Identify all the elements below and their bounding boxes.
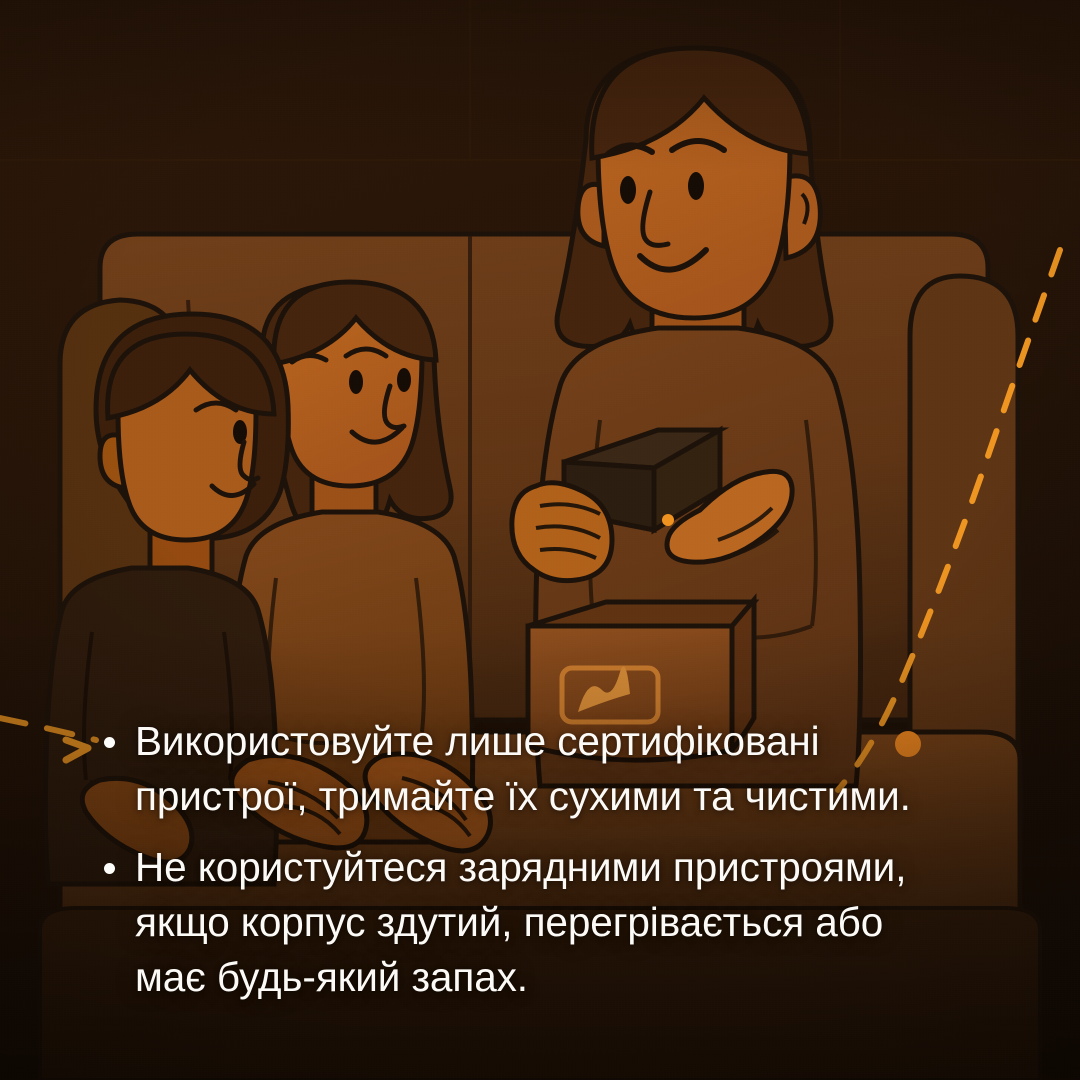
tip-text: Використовуйте лише сертифіковані пристр… <box>135 714 935 824</box>
list-item: Використовуйте лише сертифіковані пристр… <box>104 714 984 824</box>
safety-tips-list: Використовуйте лише сертифіковані пристр… <box>0 714 1080 1005</box>
woman-eye-left <box>620 176 636 204</box>
girl-eye-left <box>349 370 363 394</box>
woman-eye-right <box>688 172 704 200</box>
girl-eye-right <box>397 368 411 392</box>
list-item: Не користуйтеся зарядними пристроями, як… <box>104 840 984 1005</box>
bullet-point-icon <box>104 737 115 748</box>
bullet-point-icon <box>104 863 115 874</box>
tip-text: Не користуйтеся зарядними пристроями, як… <box>135 840 935 1005</box>
safety-tips-card: Використовуйте лише сертифіковані пристр… <box>0 0 1080 1080</box>
power-bank-indicator-led <box>662 514 674 526</box>
